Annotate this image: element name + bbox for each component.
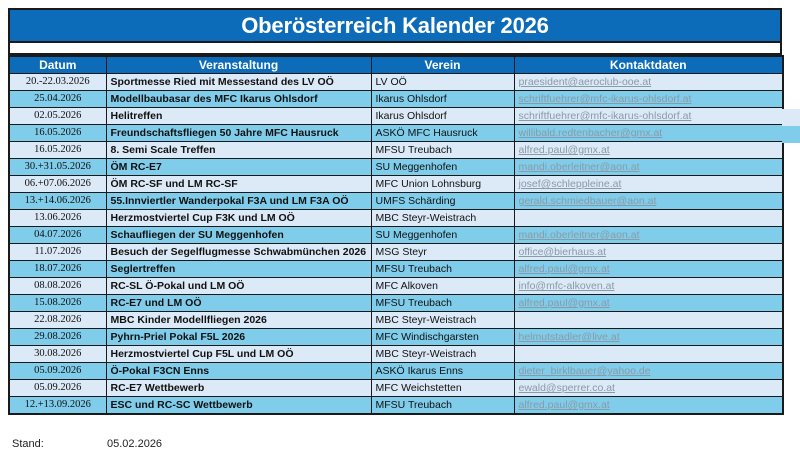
table-row: 30.+31.05.2026ÖM RC-E7SU Meggenhofenmand… [9, 159, 783, 176]
cell-datum: 25.04.2026 [9, 91, 106, 108]
table-row: 12.+13.09.2026ESC und RC-SC WettbewerbMF… [9, 397, 783, 415]
table-row: 06.+07.06.2026ÖM RC-SF und LM RC-SFMFC U… [9, 176, 783, 193]
cell-datum: 12.+13.09.2026 [9, 397, 106, 415]
table-row: 15.08.2026RC-E7 und LM OÖMFSU Treubachal… [9, 295, 783, 312]
table-row: 08.08.2026RC-SL Ö-Pokal und LM OÖMFC Alk… [9, 278, 783, 295]
cell-verein: MFSU Treubach [371, 142, 514, 159]
cell-verein: Ikarus Ohlsdorf [371, 108, 514, 125]
cell-datum: 11.07.2026 [9, 244, 106, 261]
table-row: 16.05.20268. Semi Scale TreffenMFSU Treu… [9, 142, 783, 159]
cell-veranstaltung: ESC und RC-SC Wettbewerb [106, 397, 371, 415]
cell-verein: MFC Union Lohnsburg [371, 176, 514, 193]
cell-datum: 06.+07.06.2026 [9, 176, 106, 193]
table-row: 18.07.2026SeglertreffenMFSU Treubachalfr… [9, 261, 783, 278]
row-fill-bleed [782, 126, 800, 143]
row-fill-bleed [782, 109, 800, 126]
cell-kontaktdaten: josef@schleppleine.at [514, 176, 783, 193]
column-header-datum: Datum [9, 56, 106, 74]
cell-verein: MFC Weichstetten [371, 380, 514, 397]
cell-kontaktdaten [514, 346, 783, 363]
cell-kontaktdaten: praesident@aeroclub-ooe.at [514, 74, 783, 91]
cell-verein: UMFS Schärding [371, 193, 514, 210]
cell-kontaktdaten: willibald.redtenbacher@gmx.at [514, 125, 783, 142]
email-link[interactable]: office@bierhaus.at [519, 246, 607, 258]
cell-verein: MFSU Treubach [371, 261, 514, 278]
table-row: 02.05.2026HelitreffenIkarus Ohlsdorfschr… [9, 108, 783, 125]
email-link[interactable]: praesident@aeroclub-ooe.at [519, 76, 652, 88]
cell-veranstaltung: Sportmesse Ried mit Messestand des LV OÖ [106, 74, 371, 91]
cell-verein: LV OÖ [371, 74, 514, 91]
cell-veranstaltung: ÖM RC-SF und LM RC-SF [106, 176, 371, 193]
cell-kontaktdaten: schriftfuehrer@mfc-ikarus-ohlsdorf.at [514, 108, 783, 125]
column-header-veranstaltung: Veranstaltung [106, 56, 371, 74]
table-row: 29.08.2026Pyhrn-Priel Pokal F5L 2026MFC … [9, 329, 783, 346]
cell-kontaktdaten: mandi.oberleitner@aon.at [514, 227, 783, 244]
table-row: 20.-22.03.2026Sportmesse Ried mit Messes… [9, 74, 783, 91]
cell-datum: 02.05.2026 [9, 108, 106, 125]
cell-kontaktdaten: alfred.paul@gmx.at [514, 142, 783, 159]
table-row: 22.08.2026MBC Kinder Modellfliegen 2026M… [9, 312, 783, 329]
email-link[interactable]: info@mfc-alkoven.at [519, 280, 615, 292]
table-header-row: Datum Veranstaltung Verein Kontaktdaten [9, 56, 783, 74]
cell-verein: MSG Steyr [371, 244, 514, 261]
cell-veranstaltung: MBC Kinder Modellfliegen 2026 [106, 312, 371, 329]
cell-verein: ASKÖ Ikarus Enns [371, 363, 514, 380]
cell-veranstaltung: Seglertreffen [106, 261, 371, 278]
cell-verein: SU Meggenhofen [371, 227, 514, 244]
cell-kontaktdaten: dieter_birklbauer@yahoo.de [514, 363, 783, 380]
email-link[interactable]: alfred.paul@gmx.at [519, 297, 610, 309]
cell-datum: 05.09.2026 [9, 363, 106, 380]
footer-stand-label: Stand: [12, 438, 44, 450]
cell-verein: MFC Windischgarsten [371, 329, 514, 346]
email-link[interactable]: gerald.schmiedbauer@aon.at [519, 195, 657, 207]
cell-veranstaltung: RC-SL Ö-Pokal und LM OÖ [106, 278, 371, 295]
email-link[interactable]: dieter_birklbauer@yahoo.de [519, 365, 651, 377]
footer-stand-value: 05.02.2026 [107, 438, 162, 450]
cell-kontaktdaten: ewald@sperrer.co.at [514, 380, 783, 397]
email-link[interactable]: mandi.oberleitner@aon.at [519, 229, 640, 241]
cell-datum: 05.09.2026 [9, 380, 106, 397]
table-row: 11.07.2026Besuch der Segelflugmesse Schw… [9, 244, 783, 261]
cell-veranstaltung: RC-E7 und LM OÖ [106, 295, 371, 312]
cell-kontaktdaten: info@mfc-alkoven.at [514, 278, 783, 295]
cell-veranstaltung: Pyhrn-Priel Pokal F5L 2026 [106, 329, 371, 346]
email-link[interactable]: alfred.paul@gmx.at [519, 263, 610, 275]
table-body: 20.-22.03.2026Sportmesse Ried mit Messes… [9, 74, 783, 415]
email-link[interactable]: josef@schleppleine.at [519, 178, 622, 190]
page-title: Oberösterreich Kalender 2026 [241, 15, 548, 37]
email-link[interactable]: helmutstadler@live.at [519, 331, 620, 343]
cell-verein: MFC Alkoven [371, 278, 514, 295]
cell-kontaktdaten: alfred.paul@gmx.at [514, 261, 783, 278]
table-row: 05.09.2026RC-E7 WettbewerbMFC Weichstett… [9, 380, 783, 397]
cell-datum: 15.08.2026 [9, 295, 106, 312]
cell-kontaktdaten: gerald.schmiedbauer@aon.at [514, 193, 783, 210]
cell-datum: 08.08.2026 [9, 278, 106, 295]
cell-verein: MFSU Treubach [371, 295, 514, 312]
cell-veranstaltung: Besuch der Segelflugmesse Schwabmünchen … [106, 244, 371, 261]
spreadsheet-page: Oberösterreich Kalender 2026 Datum Veran… [0, 0, 800, 463]
table-row: 04.07.2026Schaufliegen der SU Meggenhofe… [9, 227, 783, 244]
cell-verein: ASKÖ MFC Hausruck [371, 125, 514, 142]
cell-kontaktdaten: office@bierhaus.at [514, 244, 783, 261]
cell-verein: MBC Steyr-Weistrach [371, 346, 514, 363]
cell-veranstaltung: Herzmostviertel Cup F3K und LM OÖ [106, 210, 371, 227]
cell-datum: 30.08.2026 [9, 346, 106, 363]
calendar-table-wrapper: Datum Veranstaltung Verein Kontaktdaten … [8, 55, 782, 415]
email-link[interactable]: schriftfuehrer@mfc-ikarus-ohlsdorf.at [519, 110, 692, 122]
cell-datum: 18.07.2026 [9, 261, 106, 278]
cell-veranstaltung: RC-E7 Wettbewerb [106, 380, 371, 397]
email-link[interactable]: alfred.paul@gmx.at [519, 144, 610, 156]
cell-veranstaltung: ÖM RC-E7 [106, 159, 371, 176]
cell-kontaktdaten: helmutstadler@live.at [514, 329, 783, 346]
table-row: 16.05.2026Freundschaftsfliegen 50 Jahre … [9, 125, 783, 142]
table-row: 30.08.2026Herzmostviertel Cup F5L und LM… [9, 346, 783, 363]
cell-veranstaltung: Schaufliegen der SU Meggenhofen [106, 227, 371, 244]
cell-datum: 20.-22.03.2026 [9, 74, 106, 91]
cell-kontaktdaten: alfred.paul@gmx.at [514, 397, 783, 415]
email-link[interactable]: alfred.paul@gmx.at [519, 399, 610, 411]
cell-verein: MBC Steyr-Weistrach [371, 312, 514, 329]
table-row: 13.06.2026Herzmostviertel Cup F3K und LM… [9, 210, 783, 227]
cell-verein: Ikarus Ohlsdorf [371, 91, 514, 108]
cell-datum: 22.08.2026 [9, 312, 106, 329]
cell-kontaktdaten [514, 210, 783, 227]
cell-veranstaltung: Modellbaubasar des MFC Ikarus Ohlsdorf [106, 91, 371, 108]
cell-datum: 16.05.2026 [9, 142, 106, 159]
title-spacer-band [8, 43, 782, 55]
column-header-verein: Verein [371, 56, 514, 74]
cell-veranstaltung: Herzmostviertel Cup F5L und LM OÖ [106, 346, 371, 363]
cell-datum: 04.07.2026 [9, 227, 106, 244]
table-row: 13.+14.06.202655.Innviertler Wanderpokal… [9, 193, 783, 210]
cell-verein: MBC Steyr-Weistrach [371, 210, 514, 227]
table-row: 05.09.2026Ö-Pokal F3CN EnnsASKÖ Ikarus E… [9, 363, 783, 380]
column-header-kontaktdaten: Kontaktdaten [514, 56, 783, 74]
cell-veranstaltung: 55.Innviertler Wanderpokal F3A und LM F3… [106, 193, 371, 210]
cell-kontaktdaten: schriftfuehrer@mfc-ikarus-ohlsdorf.at [514, 91, 783, 108]
cell-verein: SU Meggenhofen [371, 159, 514, 176]
table-row: 25.04.2026Modellbaubasar des MFC Ikarus … [9, 91, 783, 108]
email-link[interactable]: mandi.oberleitner@aon.at [519, 161, 640, 173]
email-link[interactable]: willibald.redtenbacher@gmx.at [519, 127, 663, 139]
cell-datum: 30.+31.05.2026 [9, 159, 106, 176]
cell-datum: 29.08.2026 [9, 329, 106, 346]
cell-veranstaltung: Helitreffen [106, 108, 371, 125]
cell-kontaktdaten: alfred.paul@gmx.at [514, 295, 783, 312]
cell-datum: 16.05.2026 [9, 125, 106, 142]
cell-kontaktdaten [514, 312, 783, 329]
cell-verein: MFSU Treubach [371, 397, 514, 415]
calendar-table: Datum Veranstaltung Verein Kontaktdaten … [8, 55, 784, 415]
cell-veranstaltung: Ö-Pokal F3CN Enns [106, 363, 371, 380]
cell-veranstaltung: Freundschaftsfliegen 50 Jahre MFC Hausru… [106, 125, 371, 142]
page-title-banner: Oberösterreich Kalender 2026 [8, 8, 782, 43]
cell-datum: 13.+14.06.2026 [9, 193, 106, 210]
cell-datum: 13.06.2026 [9, 210, 106, 227]
cell-veranstaltung: 8. Semi Scale Treffen [106, 142, 371, 159]
email-link[interactable]: ewald@sperrer.co.at [519, 382, 615, 394]
table-header: Datum Veranstaltung Verein Kontaktdaten [9, 56, 783, 74]
cell-kontaktdaten: mandi.oberleitner@aon.at [514, 159, 783, 176]
email-link[interactable]: schriftfuehrer@mfc-ikarus-ohlsdorf.at [519, 93, 692, 105]
